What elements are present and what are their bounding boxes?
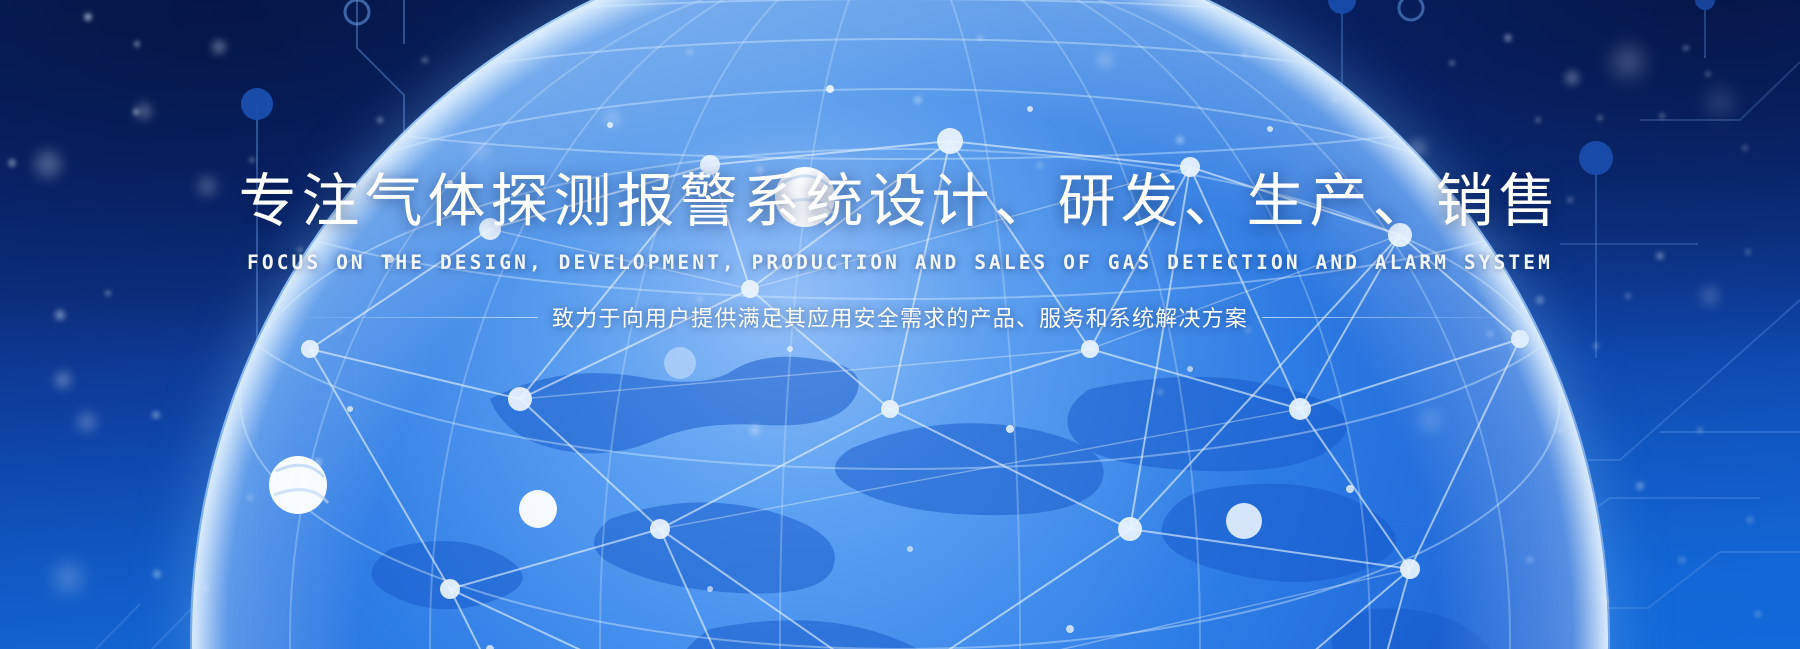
bokeh-particle: [1332, 97, 1338, 103]
bokeh-particle: [914, 96, 922, 104]
bokeh-particle: [314, 458, 322, 466]
bokeh-particle: [84, 13, 92, 21]
bokeh-particle: [1679, 557, 1685, 563]
tagline-row: 致力于向用户提供满足其应用安全需求的产品、服务和系统解决方案: [0, 301, 1800, 333]
bokeh-particle: [1613, 47, 1643, 77]
bokeh-particle: [1755, 611, 1761, 617]
bokeh-particle: [687, 49, 693, 55]
bokeh-particle: [1742, 145, 1748, 151]
bokeh-particle: [1659, 113, 1665, 119]
bokeh-particle: [1707, 89, 1733, 115]
bokeh-particle: [1420, 410, 1440, 430]
tagline-text: 致力于向用户提供满足其应用安全需求的产品、服务和系统解决方案: [552, 301, 1248, 333]
bokeh-particle: [1410, 140, 1426, 156]
bokeh-particle: [153, 570, 161, 578]
bokeh-particle: [536, 31, 544, 39]
bokeh-particle: [1176, 136, 1184, 144]
bokeh-particle: [249, 157, 255, 163]
bokeh-particle: [977, 35, 983, 41]
bokeh-particle: [1557, 427, 1563, 433]
decorative-rule-left: [306, 317, 538, 318]
bokeh-particle: [1097, 52, 1113, 68]
bokeh-particle: [133, 109, 139, 115]
bokeh-particle: [377, 117, 383, 123]
hero-text-block: 专注气体探测报警系统设计、研发、生产、销售 FOCUS ON THE DESIG…: [0, 168, 1800, 333]
bokeh-particle: [750, 425, 760, 435]
bokeh-particle: [604, 110, 620, 126]
bokeh-particle: [1593, 343, 1599, 349]
page-title: 专注气体探测报警系统设计、研发、生产、销售: [0, 168, 1800, 235]
bokeh-particle: [1565, 71, 1579, 85]
bokeh-particle: [78, 413, 96, 431]
decorative-rule-right: [1262, 317, 1494, 318]
bokeh-particle: [152, 411, 160, 419]
bokeh-particle: [1603, 597, 1609, 603]
bokeh-particle: [1449, 60, 1455, 66]
bokeh-particle: [1636, 482, 1644, 490]
bokeh-particle: [1296, 406, 1304, 414]
bokeh-particle: [422, 57, 428, 63]
bokeh-particle: [202, 585, 208, 591]
hero-banner: 专注气体探测报警系统设计、研发、生产、销售 FOCUS ON THE DESIG…: [0, 0, 1800, 649]
bokeh-particle: [8, 159, 16, 167]
bokeh-particle: [1705, 71, 1711, 77]
bokeh-particle: [1697, 427, 1703, 433]
bokeh-particle: [134, 41, 140, 47]
page-subtitle-english: FOCUS ON THE DESIGN, DEVELOPMENT, PRODUC…: [0, 251, 1800, 274]
bokeh-particle: [1747, 517, 1753, 523]
bokeh-particle: [1157, 389, 1163, 395]
bokeh-particle: [1597, 115, 1603, 121]
bokeh-particle: [1527, 557, 1533, 563]
bokeh-particle: [1504, 34, 1512, 42]
bokeh-particle: [212, 40, 226, 54]
bokeh-particle: [1683, 45, 1689, 51]
bokeh-particle: [1535, 117, 1541, 123]
bokeh-particle: [247, 495, 253, 501]
bokeh-particle: [471, 141, 489, 159]
bokeh-particle: [1242, 52, 1248, 58]
bokeh-particle: [54, 564, 82, 592]
bokeh-particle: [55, 372, 71, 388]
bokeh-particle: [136, 103, 152, 119]
